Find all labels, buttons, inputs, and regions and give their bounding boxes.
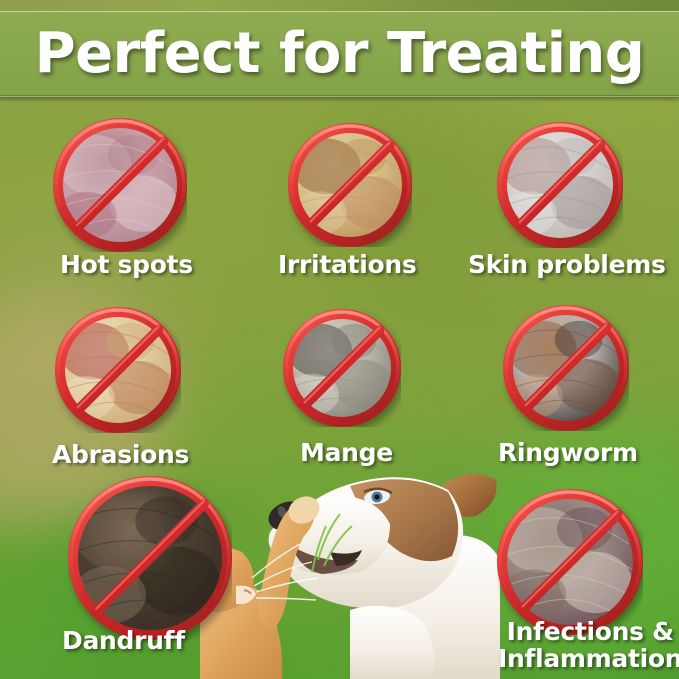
prohibition-sign-icon xyxy=(55,307,181,433)
condition-item-infections-inflammation xyxy=(497,489,643,635)
poster: Perfect for Treating xyxy=(0,0,679,679)
prohibition-sign-icon xyxy=(283,309,401,427)
header-banner: Perfect for Treating xyxy=(0,11,679,97)
condition-item-skin-problems xyxy=(497,122,623,248)
condition-label-ringworm: Ringworm xyxy=(498,440,638,467)
banner-drop-shadow xyxy=(0,95,679,103)
prohibition-sign-icon xyxy=(53,118,187,252)
condition-label-infections-inflammation: Infections &Inflammation xyxy=(498,619,679,673)
condition-item-dandruff xyxy=(68,476,232,640)
prohibition-sign-icon xyxy=(68,476,232,640)
condition-label-hot-spots: Hot spots xyxy=(60,252,193,279)
condition-label-line: Infections & xyxy=(498,619,679,646)
top-edge-strip xyxy=(0,0,679,11)
condition-item-mange xyxy=(283,309,401,427)
prohibition-sign-icon xyxy=(497,489,643,635)
condition-item-hot-spots xyxy=(53,118,187,252)
condition-label-irritations: Irritations xyxy=(278,252,416,279)
condition-item-irritations xyxy=(288,123,412,247)
condition-label-dandruff: Dandruff xyxy=(62,628,185,655)
page-title: Perfect for Treating xyxy=(35,26,645,82)
condition-item-ringworm xyxy=(503,305,629,431)
condition-label-line: Inflammation xyxy=(498,646,679,673)
condition-label-abrasions: Abrasions xyxy=(52,442,189,469)
prohibition-sign-icon xyxy=(497,122,623,248)
condition-label-mange: Mange xyxy=(300,440,393,467)
condition-label-skin-problems: Skin problems xyxy=(468,252,666,279)
condition-item-abrasions xyxy=(55,307,181,433)
dog-and-kitten-photo xyxy=(200,440,500,679)
prohibition-sign-icon xyxy=(503,305,629,431)
prohibition-sign-icon xyxy=(288,123,412,247)
